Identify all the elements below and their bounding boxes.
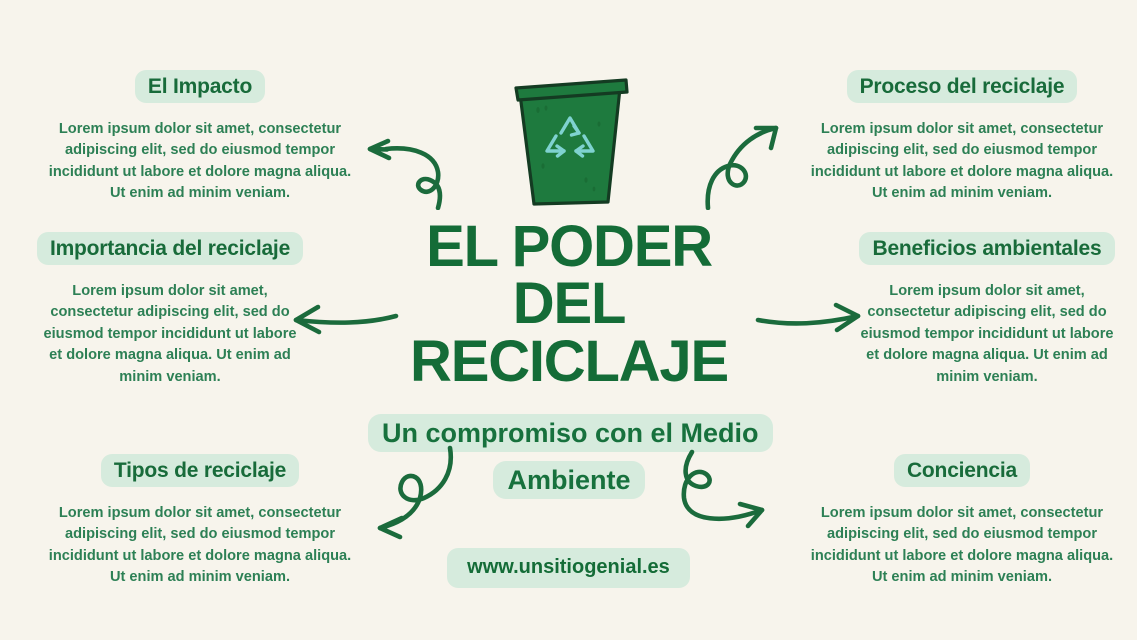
- arrow-up-right-icon: [692, 108, 802, 210]
- section-importancia: Importancia del reciclaje Lorem ipsum do…: [36, 230, 304, 388]
- section-proceso-heading-wrap: Proceso del reciclaje: [806, 68, 1118, 107]
- section-impacto-body: Lorem ipsum dolor sit amet, consectetur …: [48, 119, 352, 205]
- page-title-line-1: EL PODER DEL: [368, 218, 770, 333]
- section-beneficios-heading-wrap: Beneficios ambientales: [856, 230, 1118, 269]
- section-tipos-heading-wrap: Tipos de reciclaje: [48, 452, 352, 491]
- section-conciencia-heading-wrap: Conciencia: [806, 452, 1118, 491]
- arrow-down-left-icon: [358, 438, 482, 550]
- section-beneficios-body: Lorem ipsum dolor sit amet, consectetur …: [856, 281, 1118, 388]
- section-proceso: Proceso del reciclaje Lorem ipsum dolor …: [806, 68, 1118, 205]
- section-proceso-heading: Proceso del reciclaje: [847, 70, 1078, 103]
- section-impacto-heading: El Impacto: [135, 70, 265, 103]
- section-impacto-heading-wrap: El Impacto: [48, 68, 352, 107]
- recycle-bin-icon: [498, 62, 642, 220]
- page-title-line-2: RECICLAJE: [368, 333, 770, 390]
- footer: www.unsitiogenial.es: [0, 548, 1137, 588]
- page-title: EL PODER DEL RECICLAJE: [368, 218, 770, 390]
- section-beneficios-heading: Beneficios ambientales: [859, 232, 1114, 265]
- infographic-canvas: EL PODER DEL RECICLAJE Un compromiso con…: [0, 0, 1137, 640]
- section-conciencia-heading: Conciencia: [894, 454, 1030, 487]
- website-url[interactable]: www.unsitiogenial.es: [447, 548, 690, 588]
- section-proceso-body: Lorem ipsum dolor sit amet, consectetur …: [806, 119, 1118, 205]
- section-importancia-body: Lorem ipsum dolor sit amet, consectetur …: [36, 281, 304, 388]
- section-importancia-heading-wrap: Importancia del reciclaje: [36, 230, 304, 269]
- section-impacto: El Impacto Lorem ipsum dolor sit amet, c…: [48, 68, 352, 205]
- section-importancia-heading: Importancia del reciclaje: [37, 232, 303, 265]
- arrow-down-right-icon: [668, 448, 792, 552]
- arrow-right-icon: [752, 294, 866, 346]
- section-beneficios: Beneficios ambientales Lorem ipsum dolor…: [856, 230, 1118, 388]
- section-tipos-heading: Tipos de reciclaje: [101, 454, 299, 487]
- arrow-up-left-icon: [358, 128, 470, 210]
- arrow-left-icon: [288, 294, 402, 346]
